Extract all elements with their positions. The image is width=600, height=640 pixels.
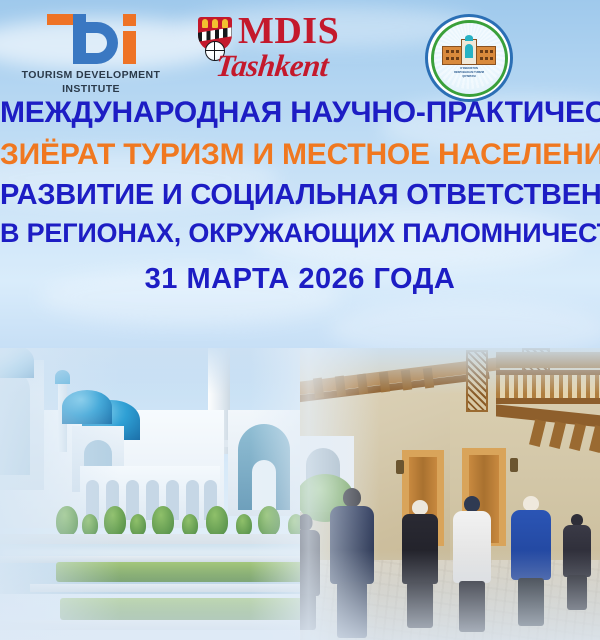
title-line-3: РАЗВИТИЕ И СОЦИАЛЬНАЯ ОТВЕТСТВЕННОСТЬ: [0, 181, 600, 211]
old-town-scene: [300, 348, 600, 640]
tdi-monogram-icon: [41, 14, 141, 64]
tdi-logo-line1: TOURISM DEVELOPMENT: [16, 69, 166, 83]
tdi-logo: TOURISM DEVELOPMENT INSTITUTE: [16, 14, 166, 96]
wooden-balcony: [496, 352, 600, 414]
building-illustration: [442, 39, 496, 65]
logo-bar: TOURISM DEVELOPMENT INSTITUTE MDIS Tashk…: [0, 0, 600, 100]
person-figure: [300, 514, 322, 630]
title-line-1: МЕЖДУНАРОДНАЯ НАУЧНО-ПРАКТИЧЕСКАЯ КОНФЕР…: [0, 98, 600, 129]
title-line-2: ЗИЁРАТ ТУРИЗМ И МЕСТНОЕ НАСЕЛЕНИЕ:: [0, 140, 600, 171]
emblem-inner-text: O‘ZBEKISTONRESPUBLIKASI TURIZMQO‘MITASI: [443, 67, 495, 79]
title-line-4: В РЕГИОНАХ, ОКРУЖАЮЩИХ ПАЛОМНИЧЕСТВО: [0, 220, 600, 248]
person-figure: [510, 496, 552, 626]
dome-corner: [0, 348, 34, 378]
person-figure: [400, 500, 440, 628]
mosque-portal: [0, 360, 44, 490]
lattice-window: [466, 350, 488, 412]
mosque-scene: [0, 348, 330, 640]
uzbekistan-emblem-icon: O‘ZBEKISTONRESPUBLIKASI TURIZMQO‘MITASI: [425, 14, 513, 102]
event-date: 31 МАРТА 2026 ГОДА: [0, 265, 600, 295]
person-figure: [562, 514, 592, 610]
mdis-city-label: Tashkent: [214, 48, 330, 84]
person-figure: [452, 496, 492, 632]
mdis-wordmark: MDIS: [238, 12, 339, 50]
photo-scene: [0, 348, 600, 640]
mdis-logo: MDIS Tashkent: [196, 14, 356, 98]
title-block: МЕЖДУНАРОДНАЯ НАУЧНО-ПРАКТИЧЕСКАЯ КОНФЕР…: [0, 98, 600, 295]
person-figure: [328, 488, 376, 638]
dome-mid: [62, 390, 112, 424]
tdi-logo-line2: INSTITUTE: [16, 83, 166, 97]
conference-poster: TOURISM DEVELOPMENT INSTITUTE MDIS Tashk…: [0, 0, 600, 640]
